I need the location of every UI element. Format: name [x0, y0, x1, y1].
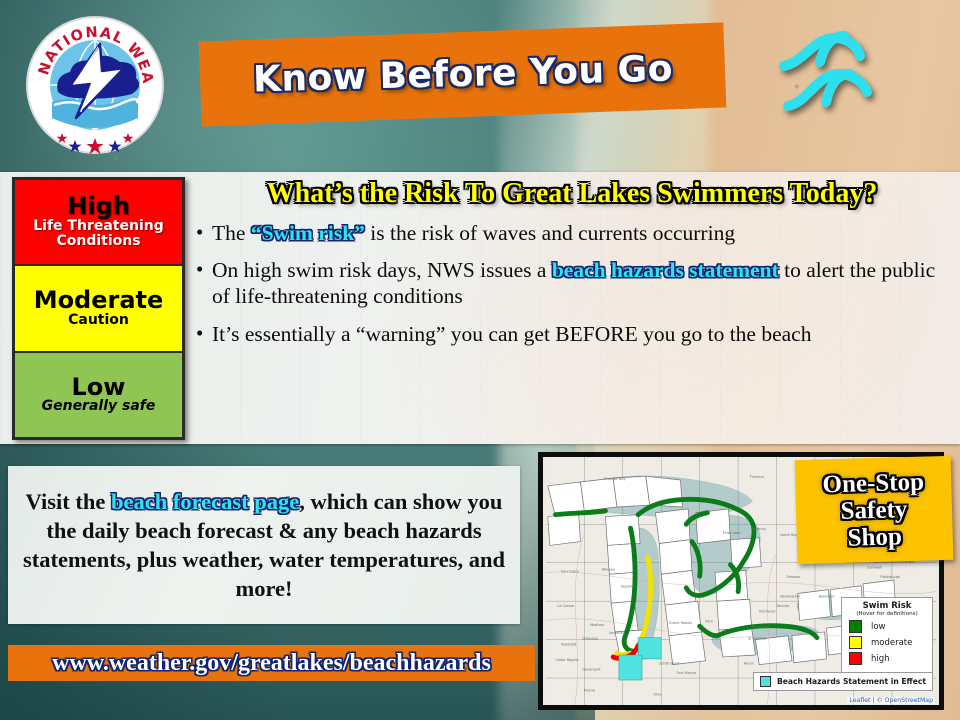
- map-bhs-legend[interactable]: Beach Hazards Statement in Effect: [753, 672, 933, 691]
- url-bar[interactable]: www.weather.gov/greatlakes/beachhazards: [8, 645, 535, 681]
- bullet-list: •The “Swim risk” is the risk of waves an…: [196, 220, 952, 358]
- bullet-item: •It’s essentially a “warning” you can ge…: [196, 321, 952, 347]
- text-run: The: [212, 221, 251, 245]
- svg-text:Cedar Rapids: Cedar Rapids: [555, 658, 578, 662]
- svg-text:Timmins: Timmins: [749, 475, 765, 479]
- swim-risk-legend-label: moderate: [871, 638, 912, 648]
- svg-text:Eau Claire: Eau Claire: [561, 569, 579, 573]
- svg-text:St Thomas: St Thomas: [748, 637, 767, 641]
- risk-level-label: Moderate: [34, 288, 164, 312]
- text-run: Visit the: [26, 489, 111, 514]
- highlighted-term[interactable]: beach hazards statement: [552, 258, 779, 282]
- svg-text:Toronto: Toronto: [776, 604, 790, 608]
- map-swim-risk-legend[interactable]: Swim Risk (Hover for definitions) lowmod…: [841, 597, 933, 674]
- section-heading: What’s the Risk To Great Lakes Swimmers …: [196, 178, 948, 210]
- swim-risk-legend-rows: lowmoderatehigh: [847, 620, 927, 665]
- svg-text:Kitchener: Kitchener: [759, 610, 776, 614]
- svg-text:Appleton: Appleton: [621, 585, 637, 589]
- bullet-item: •The “Swim risk” is the risk of waves an…: [196, 220, 952, 246]
- info-panel-text: Visit the beach forecast page, which can…: [8, 487, 520, 604]
- risk-level-description: Generally safe: [42, 399, 156, 415]
- bullet-marker-icon: •: [196, 321, 212, 346]
- svg-text:Flint: Flint: [705, 619, 713, 623]
- highlighted-term[interactable]: beach forecast page: [111, 489, 299, 514]
- safety-badge-line: Safety: [840, 496, 907, 525]
- beach-forecast-info-panel: Visit the beach forecast page, which can…: [8, 466, 520, 624]
- swim-risk-legend-label: high: [871, 654, 890, 664]
- svg-text:Cornwall: Cornwall: [867, 566, 882, 570]
- svg-text:Davenport: Davenport: [582, 667, 601, 671]
- svg-text:South Bend: South Bend: [659, 662, 679, 666]
- svg-text:Oshawa: Oshawa: [786, 575, 800, 579]
- svg-text:Newmarket: Newmarket: [780, 594, 800, 598]
- svg-text:Elliot Lake: Elliot Lake: [723, 531, 741, 535]
- svg-text:Madison: Madison: [590, 623, 604, 627]
- url-text[interactable]: www.weather.gov/greatlakes/beachhazards: [52, 650, 491, 677]
- color-swatch-icon: [849, 652, 862, 665]
- svg-text:Ohio: Ohio: [654, 692, 662, 696]
- color-swatch-icon: [849, 636, 862, 649]
- risk-level-description: Caution: [68, 313, 129, 329]
- risk-level-description: Conditions: [56, 234, 140, 250]
- bullet-text: It’s essentially a “warning” you can get…: [212, 321, 952, 347]
- text-run: On high swim risk days, NWS issues a: [212, 258, 552, 282]
- svg-text:Wausau: Wausau: [602, 567, 616, 571]
- svg-text:Peoria: Peoria: [584, 689, 595, 693]
- swim-risk-legend-subtitle: (Hover for definitions): [847, 611, 927, 617]
- safety-badge-line: One-Stop: [822, 468, 924, 498]
- bhs-legend-label: Beach Hazards Statement in Effect: [777, 677, 926, 686]
- svg-text:Woodstock: Woodstock: [752, 625, 771, 629]
- bullet-marker-icon: •: [196, 257, 212, 282]
- swim-risk-legend-item-low[interactable]: low: [849, 620, 927, 633]
- svg-text:Dubuque: Dubuque: [582, 637, 598, 641]
- svg-text:Janesville: Janesville: [608, 631, 625, 635]
- swim-risk-legend-item-moderate[interactable]: moderate: [849, 636, 927, 649]
- bullet-marker-icon: •: [196, 220, 212, 245]
- svg-text:Grand Rapids: Grand Rapids: [669, 621, 692, 625]
- color-swatch-icon: [849, 620, 862, 633]
- nws-logo-icon: NATIONAL WEATHER SERVICE: [24, 14, 166, 156]
- svg-text:Belleville: Belleville: [819, 594, 835, 598]
- svg-text:Thunder Bay: Thunder Bay: [603, 477, 626, 481]
- page-title: Know Before You Go: [252, 49, 673, 101]
- risk-level-label: Low: [72, 375, 126, 399]
- svg-text:Akron: Akron: [744, 662, 754, 666]
- risk-row-moderate: ModerateCaution: [15, 266, 182, 352]
- bullet-item: •On high swim risk days, NWS issues a be…: [196, 257, 952, 309]
- risk-level-label: High: [67, 194, 130, 218]
- one-stop-safety-shop-badge[interactable]: One-StopSafetyShop: [795, 456, 954, 564]
- text-run: It’s essentially a “warning” you can get…: [212, 322, 811, 346]
- swim-risk-legend-title: Swim Risk: [847, 602, 927, 611]
- svg-text:Fort Wayne: Fort Wayne: [677, 671, 697, 675]
- svg-text:La Crosse: La Crosse: [557, 604, 574, 608]
- swim-risk-legend-item-high[interactable]: high: [849, 652, 927, 665]
- swim-risk-legend-label: low: [871, 622, 886, 632]
- risk-level-legend: HighLife ThreateningConditionsModerateCa…: [12, 177, 185, 440]
- risk-row-high: HighLife ThreateningConditions: [15, 180, 182, 266]
- bhs-swatch-icon: [760, 676, 771, 687]
- highlighted-term[interactable]: “Swim risk”: [251, 221, 365, 245]
- risk-level-description: Life Threatening: [33, 219, 163, 235]
- bullet-text: The “Swim risk” is the risk of waves and…: [212, 220, 952, 246]
- svg-text:North Bay: North Bay: [780, 533, 797, 537]
- safety-badge-line: Shop: [847, 523, 902, 552]
- wave-icon: [774, 22, 894, 122]
- bullet-text: On high swim risk days, NWS issues a bea…: [212, 257, 952, 309]
- text-run: is the risk of waves and currents occurr…: [365, 221, 735, 245]
- svg-text:Rockford: Rockford: [561, 642, 576, 646]
- risk-row-low: LowGenerally safe: [15, 353, 182, 437]
- map-attribution[interactable]: Leaflet | © OpenStreetMap: [847, 697, 935, 704]
- svg-text:Sudbury: Sudbury: [752, 527, 766, 531]
- svg-text:Plattsburgh: Plattsburgh: [880, 575, 900, 579]
